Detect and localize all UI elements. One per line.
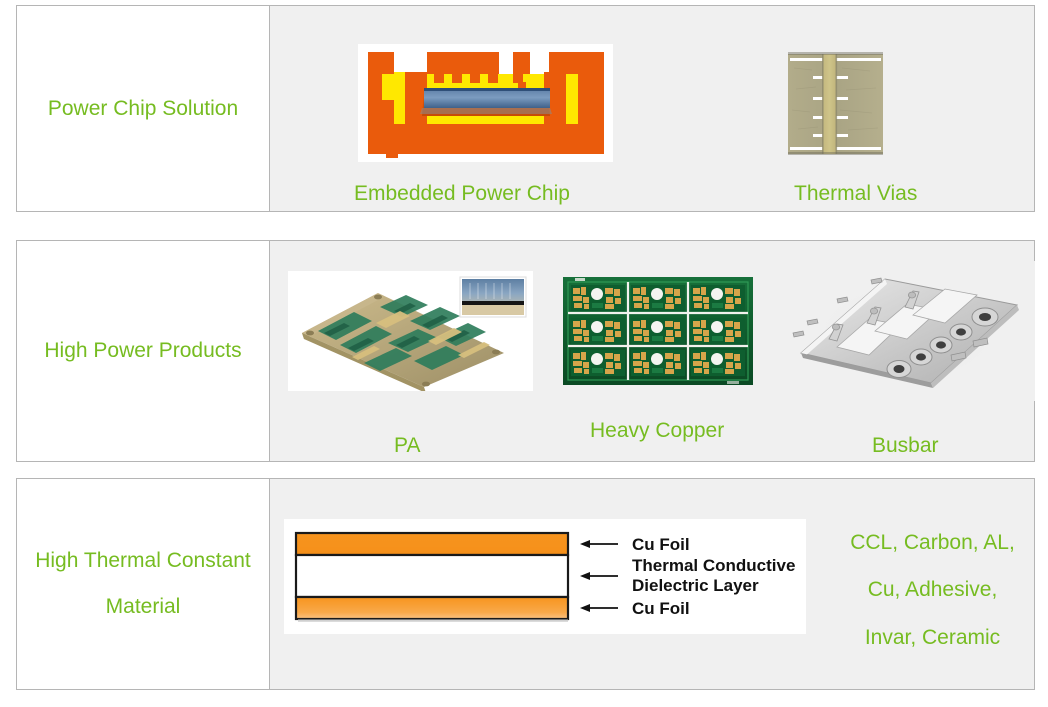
pa-board-image: [288, 271, 533, 391]
row2-label: High Power Products: [44, 335, 241, 367]
material-list: CCL, Carbon, AL, Cu, Adhesive, Invar, Ce…: [825, 519, 1040, 661]
row1-label-cell: Power Chip Solution: [17, 6, 270, 211]
row3-label-line1: High Thermal Constant: [35, 549, 251, 572]
thermal-vias-image: [782, 44, 889, 162]
caption-thermal-vias: Thermal Vias: [794, 182, 917, 206]
slide-canvas: Power Chip Solution: [0, 0, 1048, 707]
callout-dielectric-line1: Thermal Conductive: [632, 556, 795, 575]
row3-label: High Thermal Constant Material: [35, 538, 251, 630]
callout-dielectric-line2: Dielectric Layer: [632, 576, 759, 595]
material-line-3: Invar, Ceramic: [825, 614, 1040, 661]
row-power-chip-solution: Power Chip Solution: [16, 5, 1035, 212]
material-line-1: CCL, Carbon, AL,: [825, 519, 1040, 566]
material-line-2: Cu, Adhesive,: [825, 566, 1040, 613]
row1-label: Power Chip Solution: [48, 93, 238, 125]
embedded-power-chip-image: [358, 44, 613, 162]
row3-label-line2: Material: [106, 595, 181, 618]
heavy-copper-image: [559, 271, 757, 391]
row-high-power-products: High Power Products: [16, 240, 1035, 462]
row3-label-cell: High Thermal Constant Material: [17, 479, 270, 689]
row-high-thermal-constant-material: High Thermal Constant Material: [16, 478, 1035, 690]
material-stackup-diagram: Cu Foil Thermal Conductive Dielectric La…: [284, 519, 806, 634]
row3-content-cell: Cu Foil Thermal Conductive Dielectric La…: [270, 479, 1034, 689]
busbar-image: [785, 261, 1035, 401]
caption-pa: PA: [394, 434, 420, 458]
caption-heavy-copper: Heavy Copper: [590, 419, 724, 443]
row1-content-cell: Embedded Power Chip: [270, 6, 1034, 211]
row2-content-cell: PA: [270, 241, 1034, 461]
callout-cu-foil-bottom: Cu Foil: [632, 599, 690, 618]
row2-label-cell: High Power Products: [17, 241, 270, 461]
caption-busbar: Busbar: [872, 434, 939, 458]
caption-embedded-power-chip: Embedded Power Chip: [354, 182, 570, 206]
callout-cu-foil-top: Cu Foil: [632, 535, 690, 554]
